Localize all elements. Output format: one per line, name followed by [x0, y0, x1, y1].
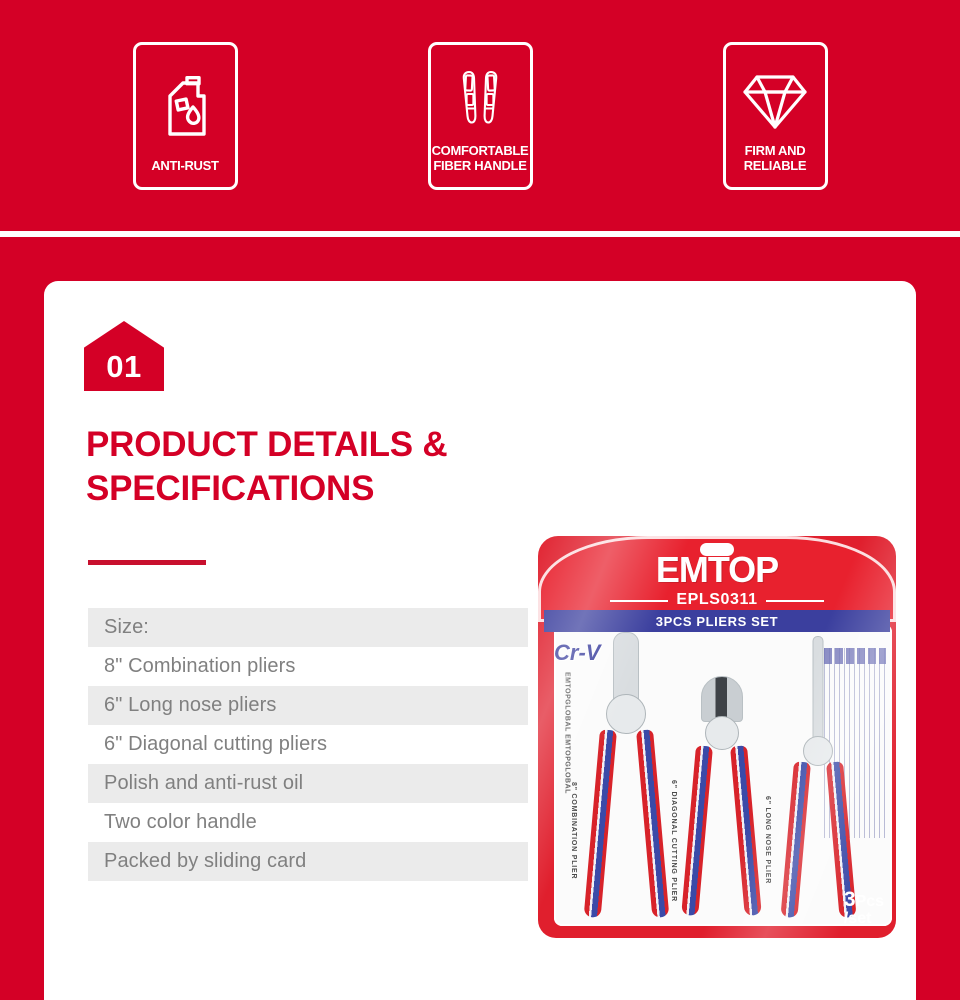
plier-handle-left [780, 761, 811, 918]
feature-badge-anti-rust: ANTI-RUST [133, 42, 238, 190]
list-item: 8" Combination pliers [88, 647, 528, 686]
title-underline-rule [88, 560, 206, 565]
section-number-badge: 01 [84, 321, 164, 391]
tool-label: 8" COMBINATION PLIER [570, 782, 577, 879]
tool-combination-pliers: 8" COMBINATION PLIER [586, 632, 666, 922]
plier-pivot [803, 736, 833, 766]
tool-label: 6" LONG NOSE PLIER [764, 796, 771, 884]
plier-pivot [606, 694, 646, 734]
quantity-unit: Pcs [856, 893, 884, 910]
feature-badges-band: ANTI-RUST COMFORTABLE FIBER HANDLE [0, 0, 960, 231]
feature-label-anti-rust: ANTI-RUST [151, 159, 218, 187]
product-package-image: EMTOP EPLS0311 3PCS PLIERS SET Cr-V EMTO… [532, 532, 902, 942]
list-item: 6" Long nose pliers [88, 686, 528, 725]
list-item: Two color handle [88, 803, 528, 842]
content-card: 01 PRODUCT DETAILS & SPECIFICATIONS Size… [44, 281, 916, 1000]
tool-long-nose-pliers: 6" LONG NOSE PLIER [782, 636, 854, 922]
emtop-logo: EMTOP [538, 552, 896, 588]
plier-handle-right [730, 745, 762, 916]
plier-handle-left [681, 745, 713, 916]
list-item: Size: [88, 608, 528, 647]
plier-pivot [705, 716, 739, 750]
hang-hole [700, 543, 734, 556]
quantity-badge: 3Pcs /set [844, 889, 884, 928]
section-number: 01 [84, 321, 164, 391]
plier-handle-right [636, 729, 669, 918]
feature-badge-fiber-handle: COMFORTABLE FIBER HANDLE [428, 42, 533, 190]
plier-nose-jaw [813, 636, 824, 744]
page-title: PRODUCT DETAILS & SPECIFICATIONS [86, 423, 566, 512]
specifications-list: Size: 8" Combination pliers 6" Long nose… [88, 608, 528, 881]
model-number: EPLS0311 [676, 591, 757, 609]
diamond-icon [726, 59, 825, 144]
quantity-number: 3 [844, 888, 856, 911]
feature-label-firm-reliable: FIRM AND RELIABLE [744, 144, 807, 187]
list-item: Packed by sliding card [88, 842, 528, 881]
package-card-backing: EMTOP EPLS0311 3PCS PLIERS SET Cr-V EMTO… [538, 536, 896, 938]
list-item: 6" Diagonal cutting pliers [88, 725, 528, 764]
set-label-strip: 3PCS PLIERS SET [544, 610, 890, 632]
feature-label-fiber-handle: COMFORTABLE FIBER HANDLE [432, 144, 529, 187]
set-label-text: 3PCS PLIERS SET [656, 614, 778, 629]
tool-diagonal-cutting-pliers: 6" DIAGONAL CUTTING PLIER [684, 676, 760, 922]
tool-label: 6" DIAGONAL CUTTING PLIER [670, 780, 677, 902]
list-item: Polish and anti-rust oil [88, 764, 528, 803]
plier-handle-left [584, 729, 617, 918]
oil-can-icon [136, 59, 235, 159]
fiber-handle-icon [431, 59, 530, 144]
quantity-per: /set [844, 911, 884, 928]
social-handles-text: EMTOPGLOBAL EMTOPGLOBAL [560, 672, 573, 794]
feature-badge-firm-reliable: FIRM AND RELIABLE [723, 42, 828, 190]
package-branding: EMTOP EPLS0311 [538, 552, 896, 609]
